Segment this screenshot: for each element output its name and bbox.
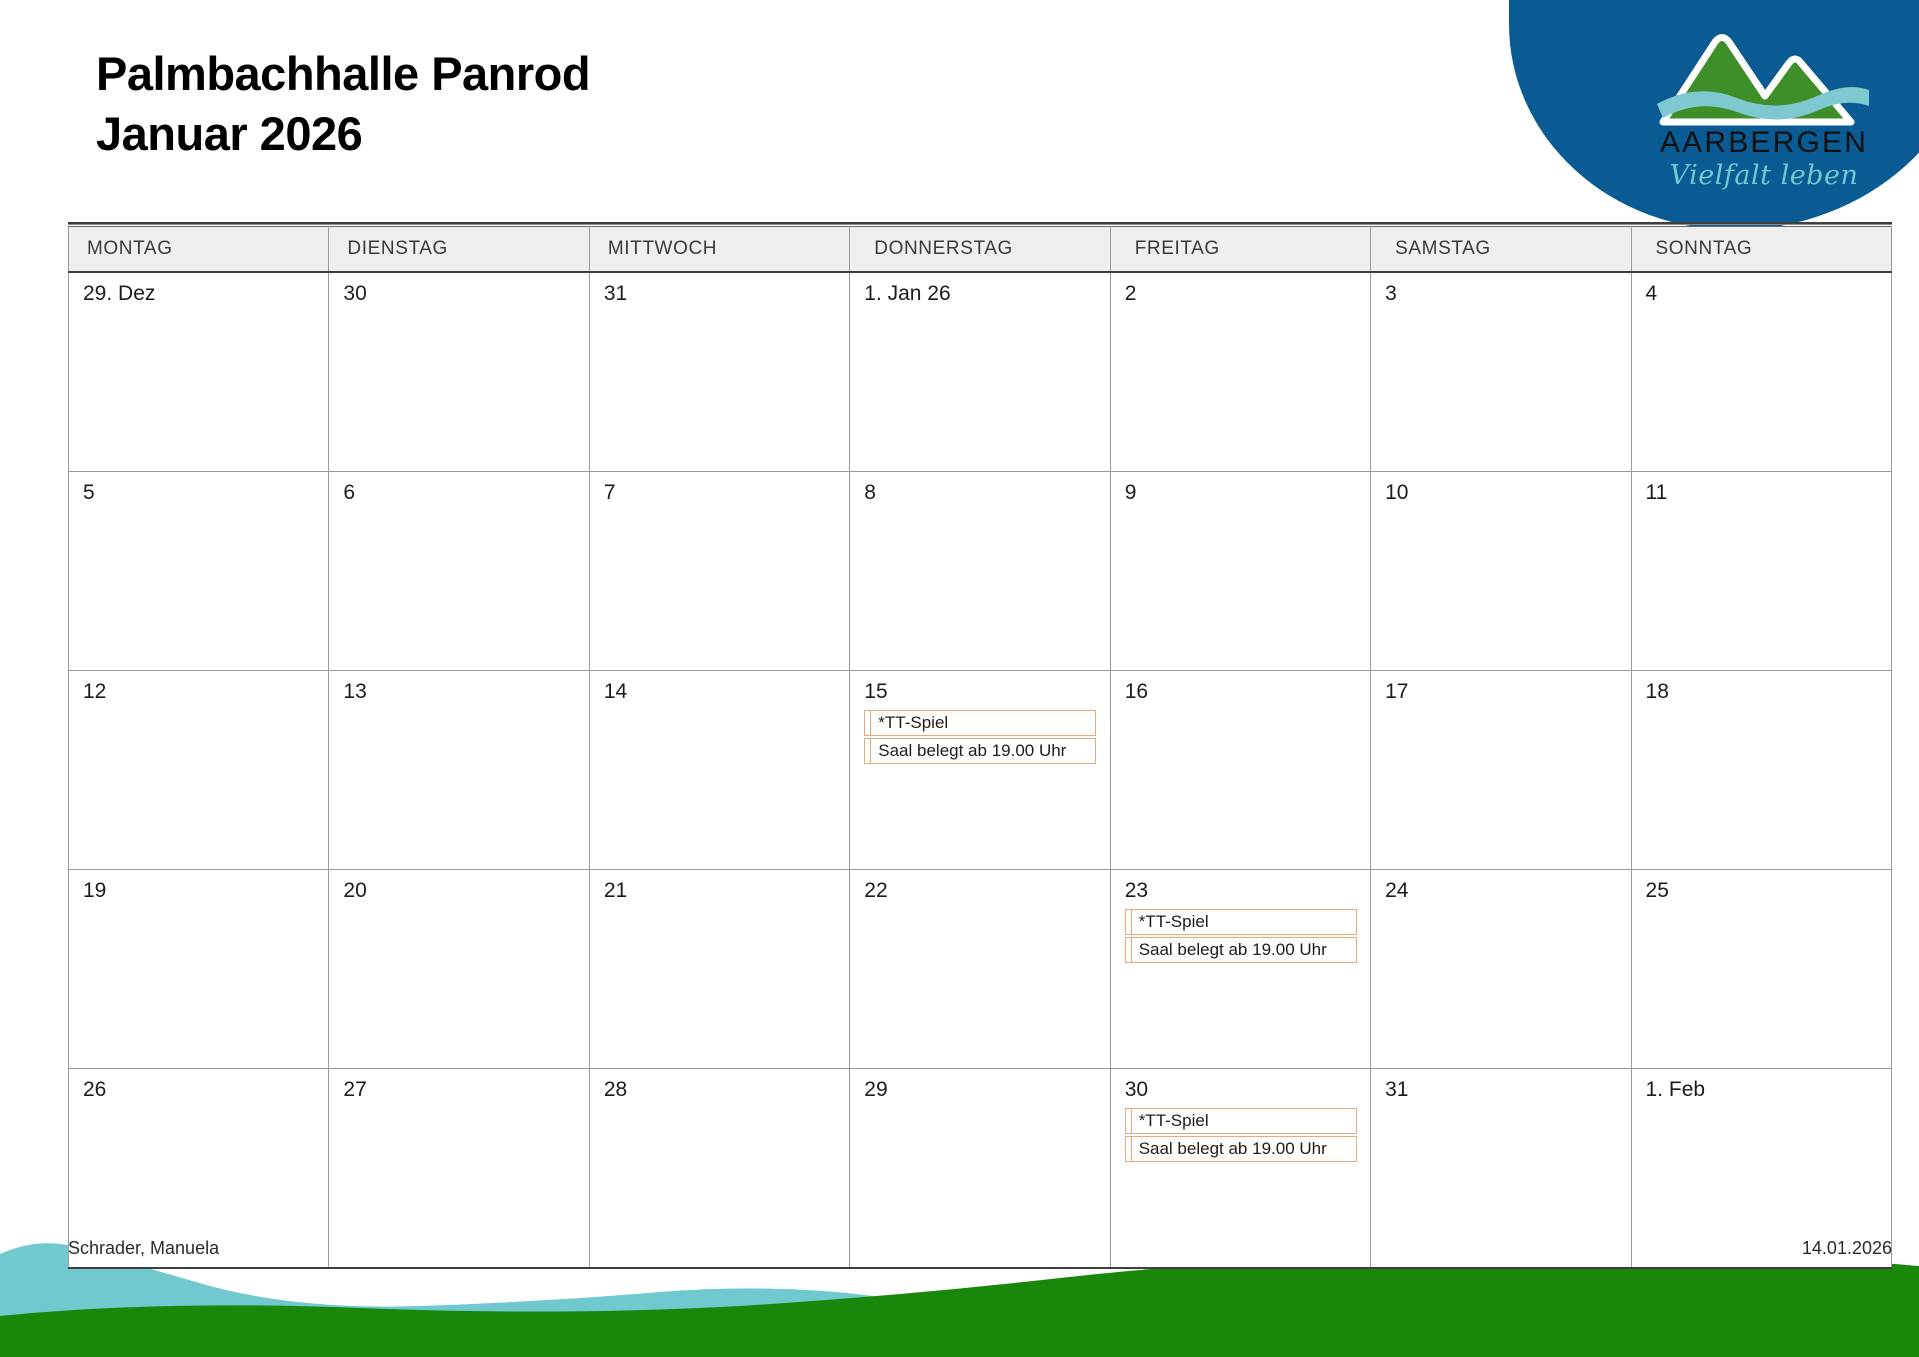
calendar-day-cell[interactable]: 17 xyxy=(1371,671,1631,870)
calendar-day-cell[interactable]: 4 xyxy=(1631,272,1891,472)
day-number: 16 xyxy=(1125,679,1364,704)
day-number: 27 xyxy=(343,1077,582,1102)
day-number: 19 xyxy=(83,878,322,903)
event-accent-bar xyxy=(1125,937,1132,963)
day-number: 10 xyxy=(1385,480,1624,505)
day-number: 12 xyxy=(83,679,322,704)
day-number: 6 xyxy=(343,480,582,505)
day-number: 30 xyxy=(1125,1077,1364,1102)
calendar-day-cell[interactable]: 7 xyxy=(589,472,849,671)
day-number: 1. Jan 26 xyxy=(864,281,1103,306)
day-number: 30 xyxy=(343,281,582,306)
calendar-day-cell[interactable]: 12 xyxy=(69,671,329,870)
calendar-top-rule xyxy=(68,222,1892,225)
calendar-event[interactable]: *TT-Spiel xyxy=(864,710,1096,736)
day-number: 29. Dez xyxy=(83,281,322,306)
calendar-week-row: 1920212223*TT-SpielSaal belegt ab 19.00 … xyxy=(69,870,1892,1069)
calendar-day-cell[interactable]: 20 xyxy=(329,870,589,1069)
calendar-day-cell[interactable]: 16 xyxy=(1110,671,1370,870)
calendar-day-cell[interactable]: 11 xyxy=(1631,472,1891,671)
day-number: 18 xyxy=(1646,679,1885,704)
event-label: *TT-Spiel xyxy=(1132,1108,1357,1134)
weekday-header-montag: MONTAG xyxy=(69,227,329,273)
logo-claim: Vielfalt leben xyxy=(1639,160,1889,191)
day-number: 31 xyxy=(1385,1077,1624,1102)
day-number: 8 xyxy=(864,480,1103,505)
day-number: 20 xyxy=(343,878,582,903)
event-label: *TT-Spiel xyxy=(871,710,1096,736)
calendar-day-cell[interactable]: 5 xyxy=(69,472,329,671)
day-number: 1. Feb xyxy=(1646,1077,1885,1102)
calendar-week-row: 29. Dez30311. Jan 26234 xyxy=(69,272,1892,472)
calendar-event[interactable]: Saal belegt ab 19.00 Uhr xyxy=(1125,1136,1357,1162)
weekday-header-donnerstag: DONNERSTAG xyxy=(850,227,1110,273)
weekday-header-samstag: SAMSTAG xyxy=(1371,227,1631,273)
event-label: *TT-Spiel xyxy=(1132,909,1357,935)
calendar-day-cell[interactable]: 23*TT-SpielSaal belegt ab 19.00 Uhr xyxy=(1110,870,1370,1069)
event-label: Saal belegt ab 19.00 Uhr xyxy=(1132,1136,1357,1162)
day-number: 9 xyxy=(1125,480,1364,505)
event-accent-bar xyxy=(864,738,871,764)
calendar-day-cell[interactable]: 2 xyxy=(1110,272,1370,472)
calendar-table: MONTAG DIENSTAG MITTWOCH DONNERSTAG FREI… xyxy=(68,226,1892,1269)
day-number: 3 xyxy=(1385,281,1624,306)
calendar-day-cell[interactable]: 13 xyxy=(329,671,589,870)
calendar-day-cell[interactable]: 22 xyxy=(850,870,1110,1069)
footer-date: 14.01.2026 xyxy=(1802,1238,1892,1259)
day-number: 22 xyxy=(864,878,1103,903)
day-number: 13 xyxy=(343,679,582,704)
calendar-day-cell[interactable]: 6 xyxy=(329,472,589,671)
event-accent-bar xyxy=(1125,1136,1132,1162)
calendar-day-cell[interactable]: 18 xyxy=(1631,671,1891,870)
day-number: 23 xyxy=(1125,878,1364,903)
calendar-day-cell[interactable]: 10 xyxy=(1371,472,1631,671)
weekday-header-mittwoch: MITTWOCH xyxy=(589,227,849,273)
day-number: 7 xyxy=(604,480,843,505)
day-number: 11 xyxy=(1646,480,1885,505)
calendar-day-cell[interactable]: 21 xyxy=(589,870,849,1069)
day-number: 14 xyxy=(604,679,843,704)
calendar: MONTAG DIENSTAG MITTWOCH DONNERSTAG FREI… xyxy=(68,222,1892,1269)
calendar-day-cell[interactable]: 30 xyxy=(329,272,589,472)
event-list: *TT-SpielSaal belegt ab 19.00 Uhr xyxy=(1125,909,1364,963)
day-number: 17 xyxy=(1385,679,1624,704)
calendar-day-cell[interactable]: 25 xyxy=(1631,870,1891,1069)
day-number: 31 xyxy=(604,281,843,306)
calendar-footer: Schrader, Manuela 14.01.2026 xyxy=(68,1238,1892,1259)
mountain-logo-icon xyxy=(1639,30,1889,130)
calendar-event[interactable]: Saal belegt ab 19.00 Uhr xyxy=(864,738,1096,764)
page-title-venue: Palmbachhalle Panrod xyxy=(96,44,590,104)
day-number: 29 xyxy=(864,1077,1103,1102)
calendar-day-cell[interactable]: 9 xyxy=(1110,472,1370,671)
day-number: 28 xyxy=(604,1077,843,1102)
calendar-week-row: 567891011 xyxy=(69,472,1892,671)
logo-wordmark: AARBERGEN xyxy=(1639,128,1889,158)
calendar-day-cell[interactable]: 31 xyxy=(589,272,849,472)
event-accent-bar xyxy=(1125,909,1132,935)
event-list: *TT-SpielSaal belegt ab 19.00 Uhr xyxy=(1125,1108,1364,1162)
day-number: 26 xyxy=(83,1077,322,1102)
calendar-event[interactable]: *TT-Spiel xyxy=(1125,909,1357,935)
day-number: 2 xyxy=(1125,281,1364,306)
calendar-body: 29. Dez30311. Jan 2623456789101112131415… xyxy=(69,272,1892,1268)
calendar-day-cell[interactable]: 1. Jan 26 xyxy=(850,272,1110,472)
calendar-week-row: 12131415*TT-SpielSaal belegt ab 19.00 Uh… xyxy=(69,671,1892,870)
calendar-day-cell[interactable]: 15*TT-SpielSaal belegt ab 19.00 Uhr xyxy=(850,671,1110,870)
calendar-day-cell[interactable]: 3 xyxy=(1371,272,1631,472)
page-title-month: Januar 2026 xyxy=(96,104,590,164)
event-label: Saal belegt ab 19.00 Uhr xyxy=(871,738,1096,764)
calendar-event[interactable]: Saal belegt ab 19.00 Uhr xyxy=(1125,937,1357,963)
page-title: Palmbachhalle Panrod Januar 2026 xyxy=(96,44,590,164)
day-number: 24 xyxy=(1385,878,1624,903)
day-number: 15 xyxy=(864,679,1103,704)
day-number: 5 xyxy=(83,480,322,505)
calendar-day-cell[interactable]: 24 xyxy=(1371,870,1631,1069)
calendar-day-cell[interactable]: 29. Dez xyxy=(69,272,329,472)
footer-author: Schrader, Manuela xyxy=(68,1238,219,1259)
day-number: 21 xyxy=(604,878,843,903)
event-label: Saal belegt ab 19.00 Uhr xyxy=(1132,937,1357,963)
day-number: 4 xyxy=(1646,281,1885,306)
event-accent-bar xyxy=(864,710,871,736)
day-number: 25 xyxy=(1646,878,1885,903)
calendar-day-cell[interactable]: 14 xyxy=(589,671,849,870)
event-accent-bar xyxy=(1125,1108,1132,1134)
event-list: *TT-SpielSaal belegt ab 19.00 Uhr xyxy=(864,710,1103,764)
weekday-header-sonntag: SONNTAG xyxy=(1631,227,1891,273)
weekday-header-freitag: FREITAG xyxy=(1110,227,1370,273)
calendar-day-cell[interactable]: 8 xyxy=(850,472,1110,671)
aarbergen-logo: AARBERGEN Vielfalt leben xyxy=(1639,30,1889,195)
weekday-header-dienstag: DIENSTAG xyxy=(329,227,589,273)
calendar-day-cell[interactable]: 19 xyxy=(69,870,329,1069)
calendar-event[interactable]: *TT-Spiel xyxy=(1125,1108,1357,1134)
calendar-header-row: MONTAG DIENSTAG MITTWOCH DONNERSTAG FREI… xyxy=(69,227,1892,273)
